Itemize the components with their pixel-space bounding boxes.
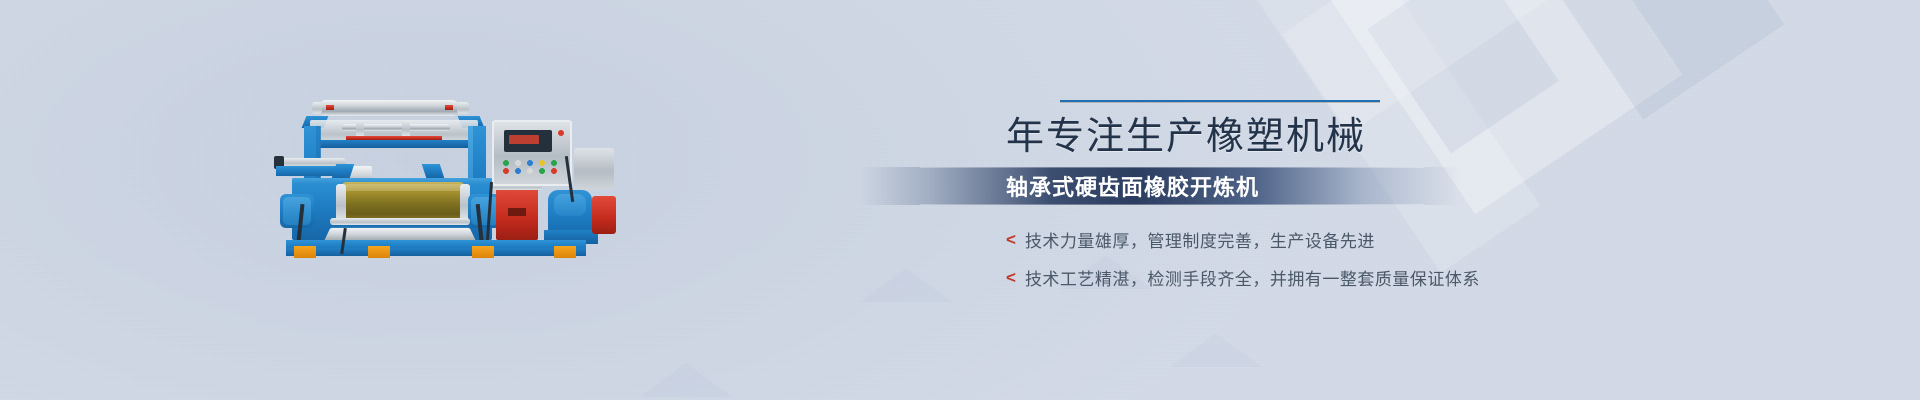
- machine-upper-stud-1: [356, 120, 364, 136]
- page-title: 年专注生产橡塑机械: [860, 115, 1620, 159]
- watermark-chevron-5: [1170, 330, 1262, 367]
- subtitle-bar: 轴承式硬齿面橡胶开炼机: [860, 167, 1460, 205]
- machine-guide-bracket-right: [422, 164, 445, 178]
- machine-top-roller-cap-left: [312, 102, 322, 114]
- watermark-chevron-3: [1000, 300, 1120, 347]
- machine-base-pad-4: [554, 246, 576, 258]
- machine-top-roller: [318, 100, 460, 116]
- feature-text: 技术力量雄厚，管理制度完善，生产设备先进: [1025, 227, 1375, 252]
- banner-text-block: 年专注生产橡塑机械 轴承式硬齿面橡胶开炼机 < 技术力量雄厚，管理制度完善，生产…: [860, 100, 1620, 303]
- machine-display-readout: [509, 135, 539, 144]
- machine-upper-crossbeam: [308, 140, 482, 148]
- machine-bearing-left-face: [283, 197, 311, 225]
- machine-upper-red-stripe: [346, 136, 442, 140]
- promo-banner: 年专注生产橡塑机械 轴承式硬齿面橡胶开炼机 < 技术力量雄厚，管理制度完善，生产…: [0, 0, 1920, 400]
- machine-base-pad-3: [472, 246, 494, 258]
- machine-red-guard-plate: [508, 208, 526, 216]
- chevron-left-icon: <: [1006, 231, 1016, 248]
- headline-divider: [1060, 100, 1380, 103]
- machine-bearing-right-face: [471, 197, 499, 225]
- machine-top-roller-cap-right: [457, 102, 469, 114]
- feature-item: < 技术力量雄厚，管理制度完善，生产设备先进: [1006, 227, 1620, 252]
- machine-base-pad-1: [294, 246, 316, 258]
- machine-base-shadow: [286, 248, 586, 256]
- machine-control-buttons: [500, 158, 564, 176]
- machine-top-roller-marker-left: [326, 105, 334, 110]
- product-image: [282, 96, 614, 262]
- product-subtitle: 轴承式硬齿面橡胶开炼机: [1006, 170, 1259, 202]
- machine-tray-rail: [330, 218, 470, 225]
- chevron-left-icon: <: [1006, 269, 1016, 286]
- machine-indicator-lamp: [558, 130, 564, 136]
- machine-main-roller-end-left: [336, 184, 346, 220]
- machine-motor-coupling: [592, 196, 616, 234]
- machine-top-roller-marker-right: [445, 105, 453, 110]
- machine-right-cabinet: [574, 148, 614, 190]
- machine-main-roller-highlight: [342, 184, 464, 191]
- feature-list: < 技术力量雄厚，管理制度完善，生产设备先进 < 技术工艺精湛，检测手段齐全，并…: [860, 227, 1620, 290]
- headline-divider-tan: [1060, 102, 1380, 103]
- subtitle-bar-bottom-edge: [920, 204, 1424, 205]
- feature-item: < 技术工艺精湛，检测手段齐全，并拥有一整套质量保证体系: [1006, 265, 1620, 290]
- machine-base-pad-2: [368, 246, 390, 258]
- feature-text: 技术工艺精湛，检测手段齐全，并拥有一整套质量保证体系: [1025, 265, 1480, 290]
- watermark-chevron-6: [640, 360, 732, 397]
- machine-upper-stud-2: [402, 120, 410, 136]
- subtitle-bar-top-edge: [920, 167, 1424, 168]
- watermark-chevron-1: [770, 320, 890, 367]
